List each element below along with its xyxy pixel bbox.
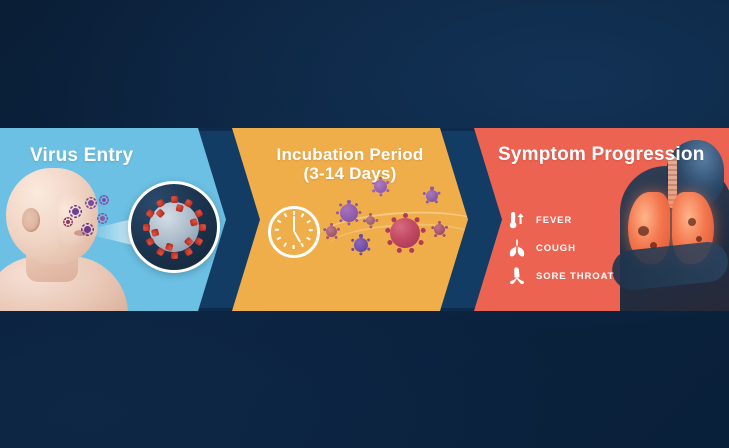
panel-symptom-progression[interactable]: FEVER COUGH — [474, 128, 729, 311]
virion-spike — [199, 224, 206, 231]
clock-tick — [293, 211, 295, 215]
virus-particle-icon — [390, 218, 420, 248]
head-profile-illustration — [0, 164, 128, 311]
virus-particle-icon — [326, 226, 337, 237]
clock-tick — [301, 243, 304, 247]
virus-particle-icon — [426, 190, 438, 202]
clock-tick — [275, 229, 279, 231]
throat-icon — [506, 265, 528, 287]
symptom-list: FEVER COUGH — [506, 208, 614, 292]
virus-particle-icon — [434, 224, 445, 235]
virion-spike — [150, 228, 159, 237]
virus-particle-icon — [66, 220, 70, 224]
lungs-icon — [506, 237, 528, 259]
symptom-row-fever: FEVER — [506, 208, 614, 232]
virus-particle-icon — [88, 200, 94, 206]
lung-lesion — [638, 226, 649, 236]
clock-tick — [277, 237, 281, 240]
symptom-label: SORE THROAT — [536, 271, 614, 282]
panel-title-virus-entry: Virus Entry — [30, 145, 133, 166]
virion-spike — [189, 218, 198, 227]
symptom-row-sore-throat: SORE THROAT — [506, 264, 614, 288]
process-flow-banner: Virus Entry — [0, 128, 729, 311]
virion-spike — [143, 224, 150, 231]
virus-particle-icon — [84, 226, 91, 233]
ear-shape — [22, 208, 40, 232]
panel-incubation-period[interactable]: Incubation Period (3-14 Days) — [232, 128, 468, 311]
clock-tick — [284, 243, 287, 247]
virus-particle-icon — [72, 208, 79, 215]
virion-spike — [165, 242, 174, 251]
lung-lesion — [688, 218, 696, 226]
symptom-label: FEVER — [536, 215, 572, 226]
clock-tick — [277, 220, 281, 223]
clock-hour-hand — [293, 231, 301, 243]
panel-title-incubation-period: Incubation Period (3-14 Days) — [232, 145, 468, 183]
clock-tick — [293, 245, 295, 249]
magnified-coronavirus-icon — [128, 181, 220, 273]
clock-icon — [268, 206, 320, 258]
virus-particle-icon — [354, 238, 368, 252]
virion-body — [149, 202, 199, 252]
virion-spike — [175, 203, 184, 212]
virion-spike — [171, 196, 178, 203]
clock-tick — [309, 229, 313, 231]
clock-minute-hand — [293, 216, 295, 232]
infographic-canvas: Virus Entry — [0, 0, 729, 448]
virion-spike — [171, 252, 178, 259]
clock-tick — [284, 213, 287, 217]
panel-title-symptom-progression: Symptom Progression — [498, 144, 705, 165]
clock-tick — [307, 237, 311, 240]
clock-tick — [307, 220, 311, 223]
lung-lesion — [696, 236, 702, 242]
panel-virus-entry[interactable]: Virus Entry — [0, 128, 226, 311]
clock-tick — [301, 213, 304, 217]
thermometer-up-icon — [506, 209, 528, 231]
symptom-row-cough: COUGH — [506, 236, 614, 260]
virus-particle-icon — [100, 216, 105, 221]
symptom-label: COUGH — [536, 243, 576, 254]
virus-particle-icon — [102, 198, 106, 202]
virus-particle-icon — [366, 216, 375, 225]
virus-particle-icon — [340, 204, 358, 222]
